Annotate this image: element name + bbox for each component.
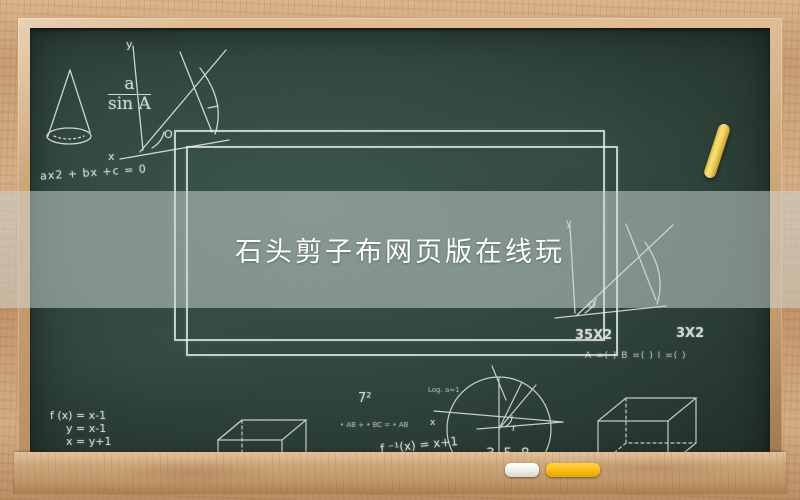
screenshot-stage: a sin A ax2 + bx +c = 0 y x O 35X2 3X2 y…	[0, 0, 800, 500]
circle-axis-x: x	[430, 418, 435, 428]
angle-label-theta: O	[164, 128, 173, 141]
axis-label-y: y	[126, 38, 133, 51]
fraction-a-sin-a-1: a sin A	[108, 76, 151, 113]
page-title: 石头剪子布网页版在线玩	[235, 230, 565, 269]
chalk-ledge	[14, 452, 786, 494]
fx-line-1: f (x) = x-1	[50, 409, 106, 422]
title-band: 石头剪子布网页版在线玩	[0, 191, 800, 308]
chalk-stick-yellow	[546, 463, 600, 477]
fx-line-2: y = x-1	[66, 422, 106, 435]
radius-label: r	[512, 424, 516, 434]
multiplication-2: 3X2	[676, 326, 704, 341]
axis-label-x: x	[108, 150, 115, 163]
seven-squared: 7²	[358, 391, 371, 406]
log-label: Log. a≈1	[428, 386, 460, 394]
chalk-stick-white	[505, 463, 539, 477]
small-expression: • AB + • BC = • AB	[340, 421, 408, 429]
ledge-wood-grain	[14, 452, 786, 494]
fx-line-3: x = y+1	[66, 435, 111, 448]
